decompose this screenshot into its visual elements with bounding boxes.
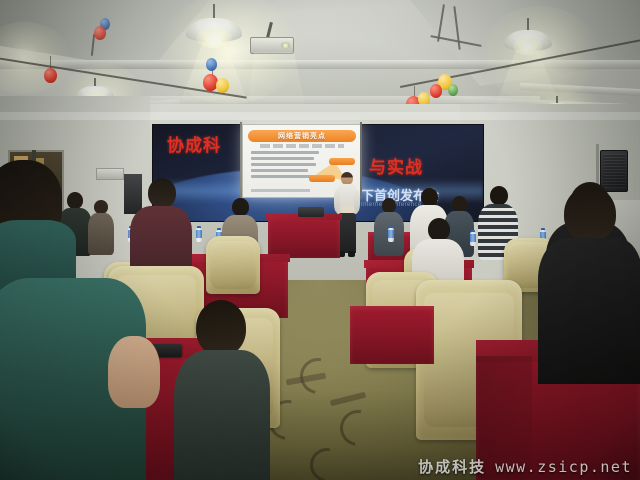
presenter-arm-right: [354, 190, 360, 212]
water-bottle-3: [196, 226, 202, 242]
water-bottle-9: [470, 230, 476, 246]
ceiling-beam-main: [0, 60, 640, 69]
watermark-company: 协成科技: [418, 456, 486, 477]
foreground-arm: [108, 336, 160, 408]
foreground-attendee-2: [174, 300, 270, 480]
slide-footer-line: [251, 189, 310, 192]
watermark: 协成科技 www.zsicp.net: [418, 456, 632, 477]
red-balloon-1: [44, 68, 57, 83]
foreground-attendee-3: [538, 186, 640, 376]
foreground-attendee-teal: [0, 160, 156, 480]
backdrop-title-right: 与实战: [369, 153, 423, 178]
red-balloon-5: [94, 26, 106, 40]
blue-balloon-1: [206, 58, 217, 71]
laptop-on-table: [298, 207, 324, 217]
conference-room-photo: 协成科 与实战 下首创发布会 Internet Conference 网络营销亮…: [0, 0, 640, 480]
slide-chip-1: [329, 158, 355, 165]
slide-header-text: 网络营销亮点: [278, 131, 326, 141]
yellow-balloon-1: [216, 78, 229, 93]
slide-chip-2: [309, 175, 335, 182]
ceiling-projector: [250, 37, 294, 54]
slide-header: 网络营销亮点: [248, 130, 357, 142]
red-balloon-4: [430, 84, 442, 98]
water-bottle-6: [388, 226, 394, 242]
presenter-shoe-right: [348, 251, 355, 257]
chair-mid-2[interactable]: [206, 236, 260, 294]
table-front-center: [350, 306, 434, 364]
wall-trim: [0, 112, 640, 120]
presenter-arm-left: [334, 190, 340, 212]
screen-edge-right: [360, 122, 362, 198]
pendant-light-2: [504, 18, 552, 56]
presenter-hands-holding: [341, 205, 354, 213]
watermark-url: www.zsicp.net: [495, 458, 632, 476]
pendant-light-1: [186, 4, 242, 48]
green-balloon-1: [448, 84, 458, 96]
slide-subtitle-line: [260, 144, 345, 148]
table-back-center: [268, 216, 340, 258]
backdrop-title-left: 协成科: [167, 131, 221, 156]
